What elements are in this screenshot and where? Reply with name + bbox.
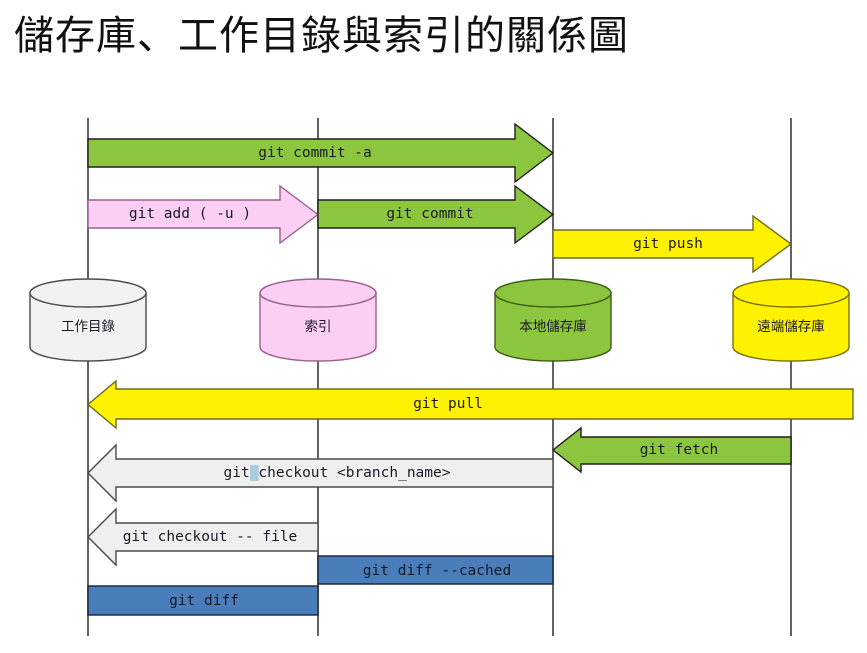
bar-git-diff: git diff <box>88 586 318 615</box>
page-title: 儲存庫、工作目錄與索引的關係圖 <box>14 8 629 64</box>
arrow-label-git-push: git push <box>633 236 703 252</box>
node-working-directory: 工作目錄 <box>30 279 146 361</box>
bar-label-git-diff: git diff <box>169 593 239 609</box>
bar-label-git-diff-cached: git diff --cached <box>363 563 511 579</box>
node-label-working-directory: 工作目錄 <box>61 319 115 335</box>
arrow-git-fetch: git fetch <box>553 428 791 472</box>
arrow-label-git-pull: git pull <box>413 396 483 412</box>
arrow-git-pull: git pull <box>88 381 853 428</box>
arrow-git-add-u: git add ( -u ) <box>88 186 318 243</box>
arrow-label-git-fetch: git fetch <box>640 442 719 458</box>
cylinder-top-working-directory <box>30 279 146 307</box>
node-local-repository: 本地儲存庫 <box>495 279 611 361</box>
cylinder-top-remote-repository <box>733 279 849 307</box>
arrow-git-commit: git commit <box>318 186 553 243</box>
arrow-label-git-add-u: git add ( -u ) <box>129 206 251 222</box>
node-label-remote-repository: 遠端儲存庫 <box>757 319 825 335</box>
arrow-label-git-commit: git commit <box>386 206 473 222</box>
cylinder-top-local-repository <box>495 279 611 307</box>
diagram-svg: git commit -agit add ( -u )git commitgit… <box>0 96 867 653</box>
arrow-git-push: git push <box>553 216 791 272</box>
arrow-label-git-checkout-file: git checkout -- file <box>123 529 298 545</box>
node-label-index: 索引 <box>305 319 332 335</box>
cylinder-top-index <box>260 279 376 307</box>
arrow-label-git-commit-a: git commit -a <box>258 145 372 161</box>
node-label-local-repository: 本地儲存庫 <box>519 319 587 335</box>
node-index: 索引 <box>260 279 376 361</box>
node-remote-repository: 遠端儲存庫 <box>733 279 849 361</box>
bar-git-diff-cached: git diff --cached <box>318 556 553 584</box>
arrow-git-checkout-file: git checkout -- file <box>88 509 318 565</box>
arrow-git-checkout-branch: git checkout <branch_name> <box>88 445 553 501</box>
arrow-git-commit-a: git commit -a <box>88 124 553 182</box>
git-relationship-diagram: git commit -agit add ( -u )git commitgit… <box>0 96 867 653</box>
arrow-label-git-checkout-branch: git checkout <branch_name> <box>224 465 451 481</box>
